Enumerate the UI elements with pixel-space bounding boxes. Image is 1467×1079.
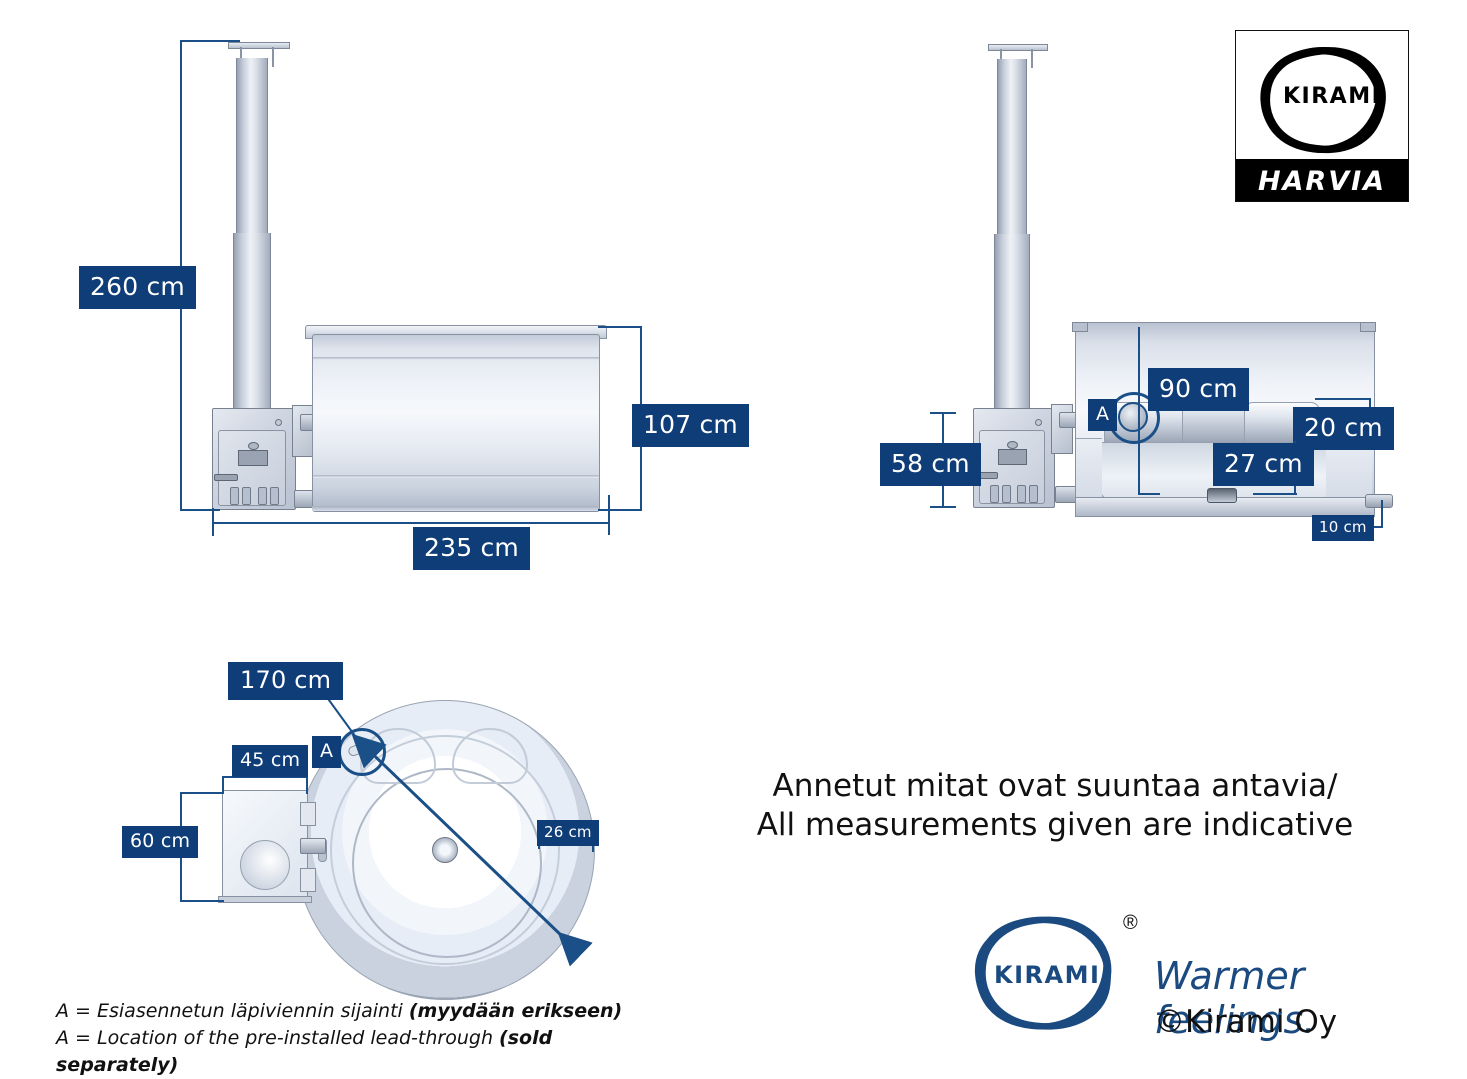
copyright-text: ©Kirami Oy (1154, 1004, 1337, 1040)
indicative-note-en: All measurements given are indicative (720, 806, 1390, 845)
heater-door-badge (998, 449, 1027, 465)
tub-band-upper (313, 357, 599, 360)
dim-tick-60cm-bottom (180, 900, 224, 902)
tub-foot-shadow (312, 506, 598, 511)
kirami-footer-brand: KIRAMI ® Warmer feelings. ©Kirami Oy (968, 900, 1428, 1050)
dimension-58cm: 58 cm (880, 443, 981, 486)
dimension-45cm: 45 cm (232, 745, 308, 777)
chimney-pipe-upper (236, 58, 268, 238)
dim-tick-45cm-right (306, 776, 308, 794)
dimension-60cm: 60 cm (122, 826, 198, 858)
legend-line-en: A = Location of the pre-installed lead-t… (56, 1025, 676, 1079)
registered-trademark-icon: ® (1123, 912, 1138, 935)
dimension-260cm: 260 cm (79, 266, 196, 309)
dim-tick-20cm-top (1315, 398, 1371, 400)
heater-air-vent (1017, 485, 1026, 503)
dimension-170cm: 170 cm (228, 662, 343, 700)
chimney-rain-cap (228, 42, 290, 49)
heater-air-vent (1029, 485, 1038, 503)
heater-screw (1035, 419, 1042, 426)
dimension-26cm: 26 cm (537, 820, 599, 846)
marker-a-section: A (1088, 399, 1117, 431)
dim-tick-total-height-top (180, 40, 240, 42)
heater-door-knob (1007, 441, 1018, 449)
heater-air-vent (1002, 485, 1011, 503)
heater-door-handle (214, 474, 238, 481)
dimension-235cm: 235 cm (413, 527, 530, 570)
dimension-90cm: 90 cm (1148, 368, 1249, 411)
tub-rim-left-bracket (1072, 322, 1088, 332)
dim-tick-90cm-bottom (1138, 493, 1160, 495)
chimney-rain-cap (988, 44, 1048, 51)
dim-tick-60cm-top (180, 792, 224, 794)
chimney-pipe-upper (997, 59, 1027, 239)
heater-door-knob (248, 442, 259, 450)
drain-valve (1365, 494, 1393, 508)
chimney-cap-leg-right (272, 47, 274, 67)
dim-tick-total-width-left (212, 508, 214, 536)
kirami-wordmark-top: KIRAMI (1283, 84, 1363, 109)
legend-fi-bold: (myydään erikseen) (409, 1000, 622, 1022)
indicative-note-fi: Annetut mitat ovat suuntaa antavia/ (720, 767, 1390, 806)
tub-band-lower (313, 475, 599, 478)
dim-tick-27cm-bottom (1253, 493, 1297, 495)
heater-air-vent (230, 487, 239, 505)
legend-line-fi: A = Esiasennetun läpiviennin sijainti (m… (56, 998, 676, 1025)
tub-body (312, 334, 600, 512)
lead-through-nozzle-icon (1118, 402, 1148, 432)
dim-tick-tub-height-top (598, 326, 642, 328)
chimney-pipe-lower (233, 233, 271, 413)
dim-tick-total-height-bottom (180, 509, 220, 511)
kirami-wordmark-footer: KIRAMI (994, 961, 1090, 989)
indicative-note: Annetut mitat ovat suuntaa antavia/ All … (720, 767, 1390, 845)
drawing-canvas: 260 cm 107 cm 235 cm (0, 0, 1467, 1066)
heater-screw (275, 419, 282, 426)
top-view: A 170 cm 45 cm 60 cm (0, 640, 700, 1040)
heater-door-badge (238, 450, 268, 466)
legend-block: A = Esiasennetun läpiviennin sijainti (m… (56, 998, 676, 1079)
dim-tick-heater-bottom (930, 506, 956, 508)
kirami-harvia-logo-box: KIRAMI HARVIA (1235, 30, 1409, 202)
harvia-wordmark: HARVIA (1236, 166, 1408, 197)
legend-fi-prefix: A = Esiasennetun läpiviennin sijainti (56, 1000, 409, 1022)
dimension-10cm: 10 cm (1312, 515, 1374, 541)
legend-en-prefix: A = Location of the pre-installed lead-t… (56, 1027, 499, 1049)
front-elevation-view: 260 cm 107 cm 235 cm (0, 0, 760, 600)
dim-line-10cm (1381, 500, 1383, 528)
dim-tick-tub-height-bottom (598, 509, 642, 511)
heater-air-vent (990, 485, 999, 503)
dim-line-total-width (212, 522, 610, 524)
chimney-cap-leg-right (1031, 49, 1033, 68)
dimension-27cm: 27 cm (1213, 443, 1314, 486)
dim-line-90cm (1138, 327, 1140, 495)
dimension-107cm: 107 cm (632, 404, 749, 447)
heater-air-vent (270, 487, 279, 505)
dim-tick-heater-top (930, 412, 956, 414)
heater-air-vent (258, 487, 267, 505)
chimney-pipe-lower (994, 234, 1030, 412)
tub-outer-floor-band-left (1076, 438, 1102, 499)
heater-air-vent (242, 487, 251, 505)
tub-drain-fitting (1207, 488, 1237, 503)
dim-tick-total-width-right (608, 495, 610, 535)
tub-rim-right-bracket (1360, 322, 1376, 332)
